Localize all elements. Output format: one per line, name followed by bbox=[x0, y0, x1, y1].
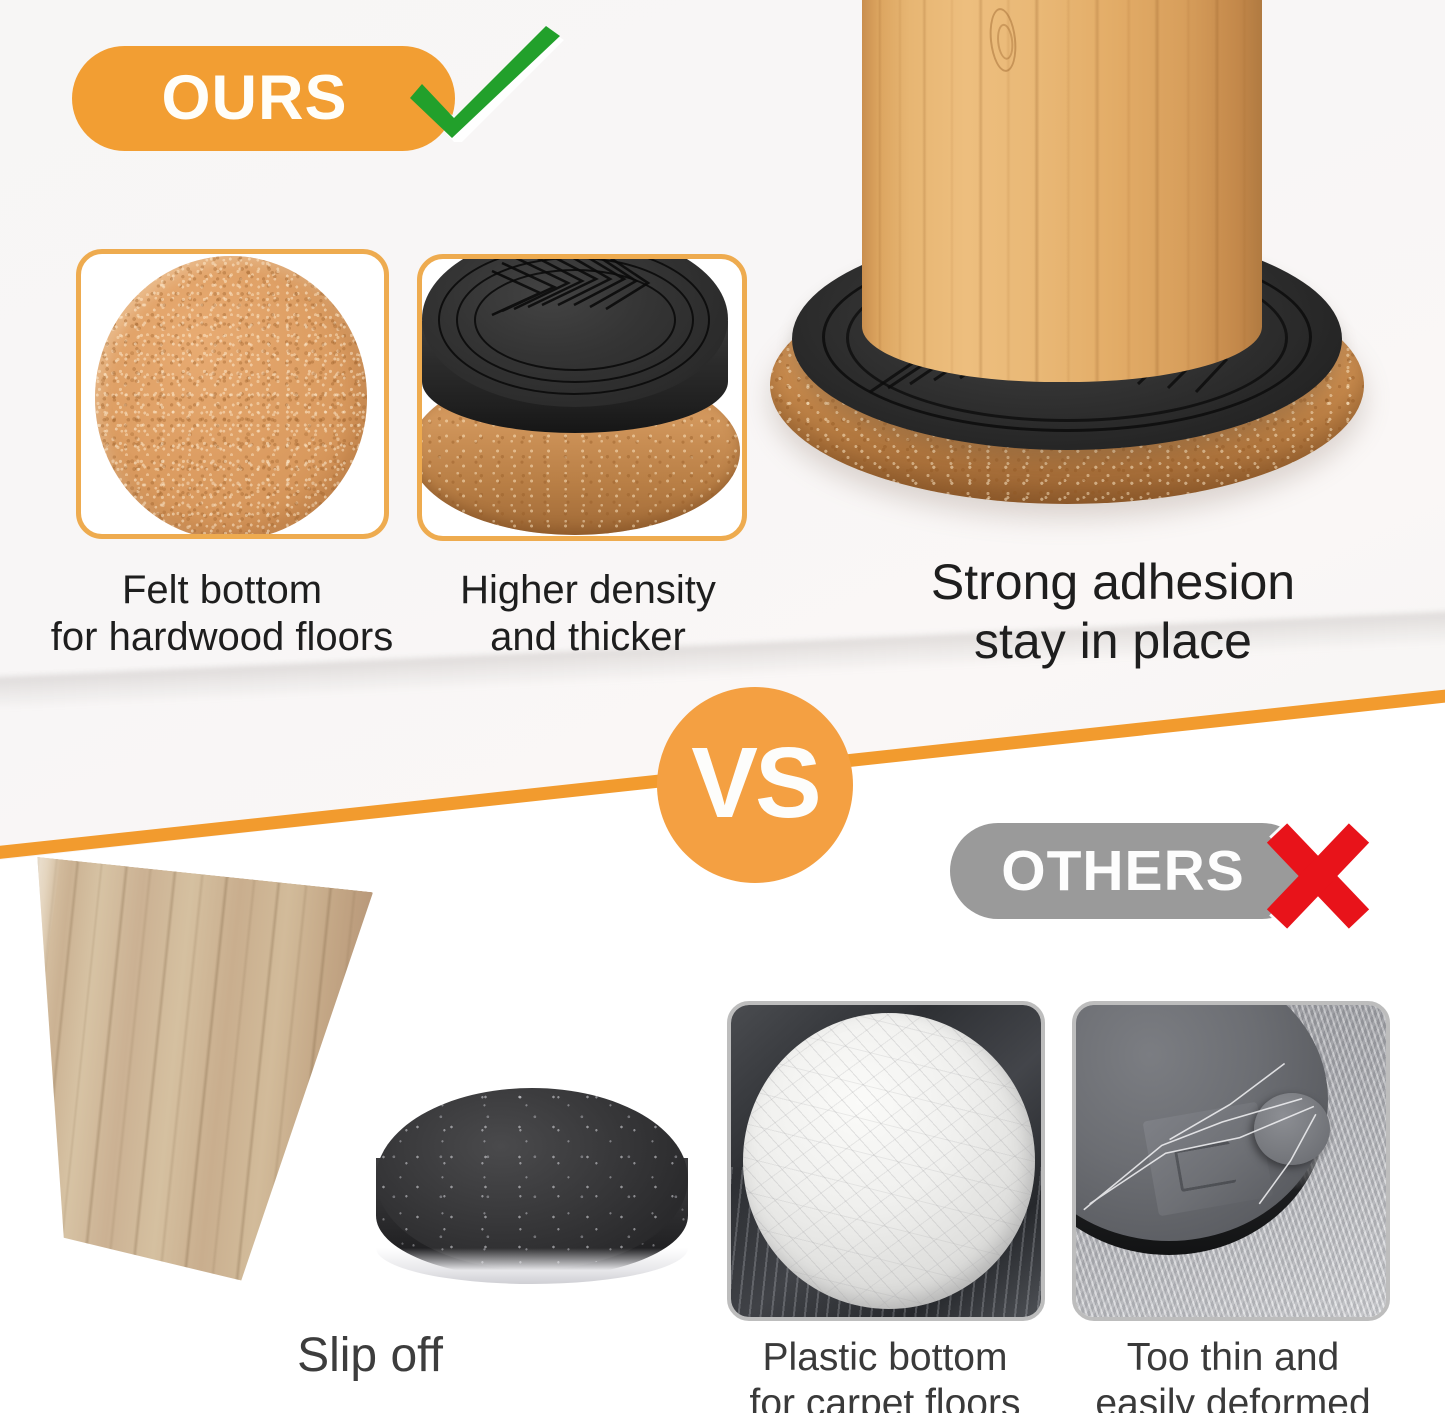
felt-pad-photo bbox=[95, 256, 367, 539]
scratched-plastic-disc-photo bbox=[743, 1013, 1035, 1309]
stack-rubber-top-photo bbox=[422, 254, 728, 407]
ours-badge-label: OURS bbox=[161, 67, 365, 130]
vs-label: VS bbox=[691, 733, 818, 833]
vs-badge: VS bbox=[657, 687, 853, 883]
slip-off-photo bbox=[18, 876, 698, 1326]
slip-foam-pad-top bbox=[376, 1088, 688, 1270]
slip-foam-pad-bottom-rim bbox=[376, 1248, 688, 1284]
green-check-icon bbox=[396, 26, 568, 154]
plastic-scratch-overlay bbox=[743, 1013, 1035, 1309]
red-cross-icon bbox=[1255, 817, 1381, 935]
slip-foam-top-texture bbox=[376, 1088, 688, 1270]
plastic-bottom-caption: Plastic bottom for carpet floors bbox=[710, 1335, 1060, 1413]
felt-texture-overlay bbox=[95, 256, 367, 539]
rubber-chevron-ribs bbox=[422, 254, 728, 407]
wood-furniture-leg-photo bbox=[862, 0, 1262, 382]
others-badge-label: OTHERS bbox=[1001, 843, 1259, 900]
too-thin-photo-card bbox=[1072, 1001, 1390, 1321]
slip-off-caption: Slip off bbox=[170, 1328, 570, 1385]
too-thin-caption: Too thin and easily deformed bbox=[1058, 1335, 1408, 1413]
plastic-bottom-photo-card bbox=[727, 1001, 1045, 1321]
wood-grain-overlay bbox=[862, 0, 1262, 382]
product-comparison-infographic: OURS bbox=[0, 0, 1445, 1413]
felt-bottom-caption: Felt bottom for hardwood floors bbox=[22, 567, 422, 661]
slipping-wood-leg-photo bbox=[0, 856, 373, 1290]
felt-bottom-photo-card bbox=[76, 249, 389, 539]
strong-adhesion-hero-photo bbox=[770, 0, 1430, 554]
higher-density-photo-card bbox=[417, 254, 747, 541]
higher-density-caption: Higher density and thicker bbox=[418, 567, 758, 661]
slip-wood-grain-overlay bbox=[0, 856, 373, 1290]
strong-adhesion-caption: Strong adhesion stay in place bbox=[858, 553, 1368, 671]
carpet-fiber-strands bbox=[1076, 1005, 1386, 1317]
